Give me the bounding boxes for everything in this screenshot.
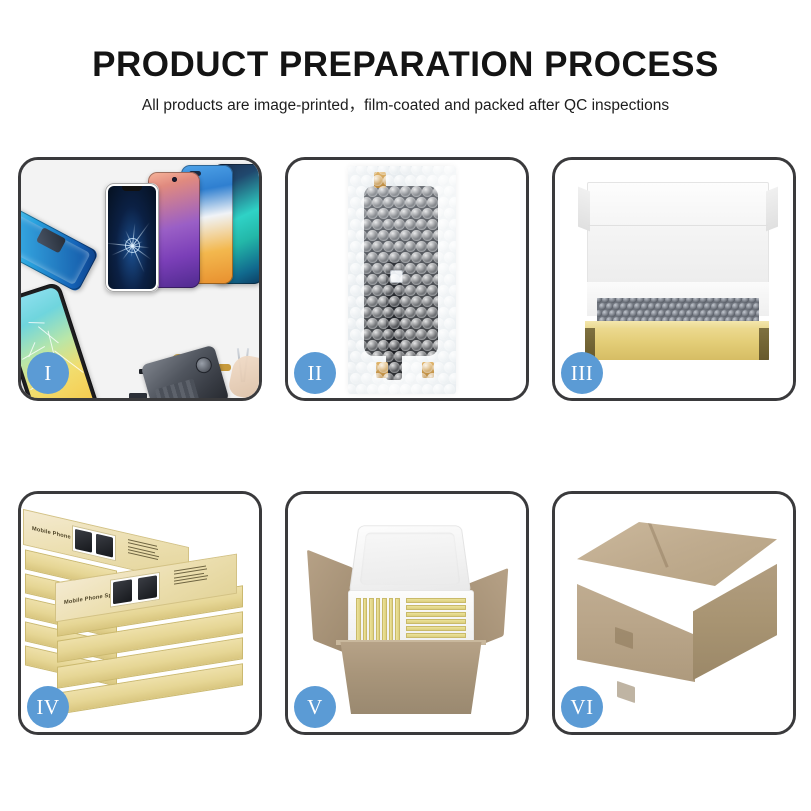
box-label-screen-front [75, 529, 92, 553]
kraft-box-front [585, 328, 769, 360]
yellow-box [376, 598, 381, 642]
yellow-box [389, 598, 394, 642]
kraft-box-end-right [759, 328, 769, 360]
front-glass-panel [105, 183, 159, 292]
box-spec-lines-upper [128, 539, 168, 565]
yellow-box [406, 612, 466, 617]
process-step-panel-5: V [285, 491, 529, 735]
crack-ring [125, 238, 140, 253]
header: PRODUCT PREPARATION PROCESS All products… [0, 44, 811, 115]
carton-top-seam [642, 507, 669, 567]
bubble-texture [348, 166, 456, 394]
part-connector-a [129, 393, 147, 398]
step-badge-4: IV [27, 686, 69, 728]
yellow-box [406, 605, 466, 610]
page-title: PRODUCT PREPARATION PROCESS [0, 44, 811, 86]
step-badge-5: V [294, 686, 336, 728]
process-step-panel-1: I [18, 157, 262, 401]
yellow-box [406, 633, 466, 638]
yellow-box [395, 598, 400, 642]
blue-adhesive-screen [21, 207, 99, 293]
lid-crease [588, 225, 768, 226]
phone-back-housing [140, 345, 229, 398]
crack-graphic [112, 226, 152, 266]
process-step-panel-3: III [552, 157, 796, 401]
yellow-box [406, 598, 466, 603]
yellow-box [406, 619, 466, 624]
styrofoam-lid-well [360, 533, 461, 585]
box-label-image-lower [110, 572, 160, 608]
box-spec-lines-lower [174, 564, 218, 587]
blue-screen-surface [21, 215, 91, 285]
yellow-box [382, 598, 387, 642]
carton-tape-lower [617, 681, 635, 703]
front-camera-icon [172, 177, 177, 182]
yellow-box [369, 598, 374, 642]
step-badge-3: III [561, 352, 603, 394]
process-step-grid: I II [18, 157, 796, 735]
box-label-screen-back [96, 534, 113, 558]
yellow-box [406, 626, 466, 631]
product-preparation-infographic: PRODUCT PREPARATION PROCESS All products… [0, 0, 811, 811]
step-badge-1: I [27, 352, 69, 394]
bubble-wrap-bag [348, 166, 456, 394]
step-badge-2: II [294, 352, 336, 394]
box-label-screen-back-2 [138, 575, 157, 600]
process-step-panel-4: Mobile Phone Spare Parts Mobile Phone Sp… [18, 491, 262, 735]
carton-body [336, 642, 486, 714]
camera-lens-icon [194, 355, 214, 375]
yellow-boxes-horizontal [406, 598, 466, 642]
carton-top-seam-wrap [577, 522, 777, 586]
step-badge-6: VI [561, 686, 603, 728]
box-label-image-upper [72, 525, 116, 561]
yellow-box [363, 598, 368, 642]
page-subtitle: All products are image-printed，film-coat… [0, 96, 811, 115]
blue-screen-chip [36, 227, 66, 253]
front-glass-surface [108, 186, 156, 289]
process-step-panel-2: II [285, 157, 529, 401]
box-label-screen-front-2 [113, 579, 132, 604]
notch-icon [122, 186, 142, 191]
process-step-panel-6: VI [552, 491, 796, 735]
battery-module [155, 379, 200, 398]
yellow-box [356, 598, 361, 642]
styrofoam-lid [349, 525, 472, 594]
